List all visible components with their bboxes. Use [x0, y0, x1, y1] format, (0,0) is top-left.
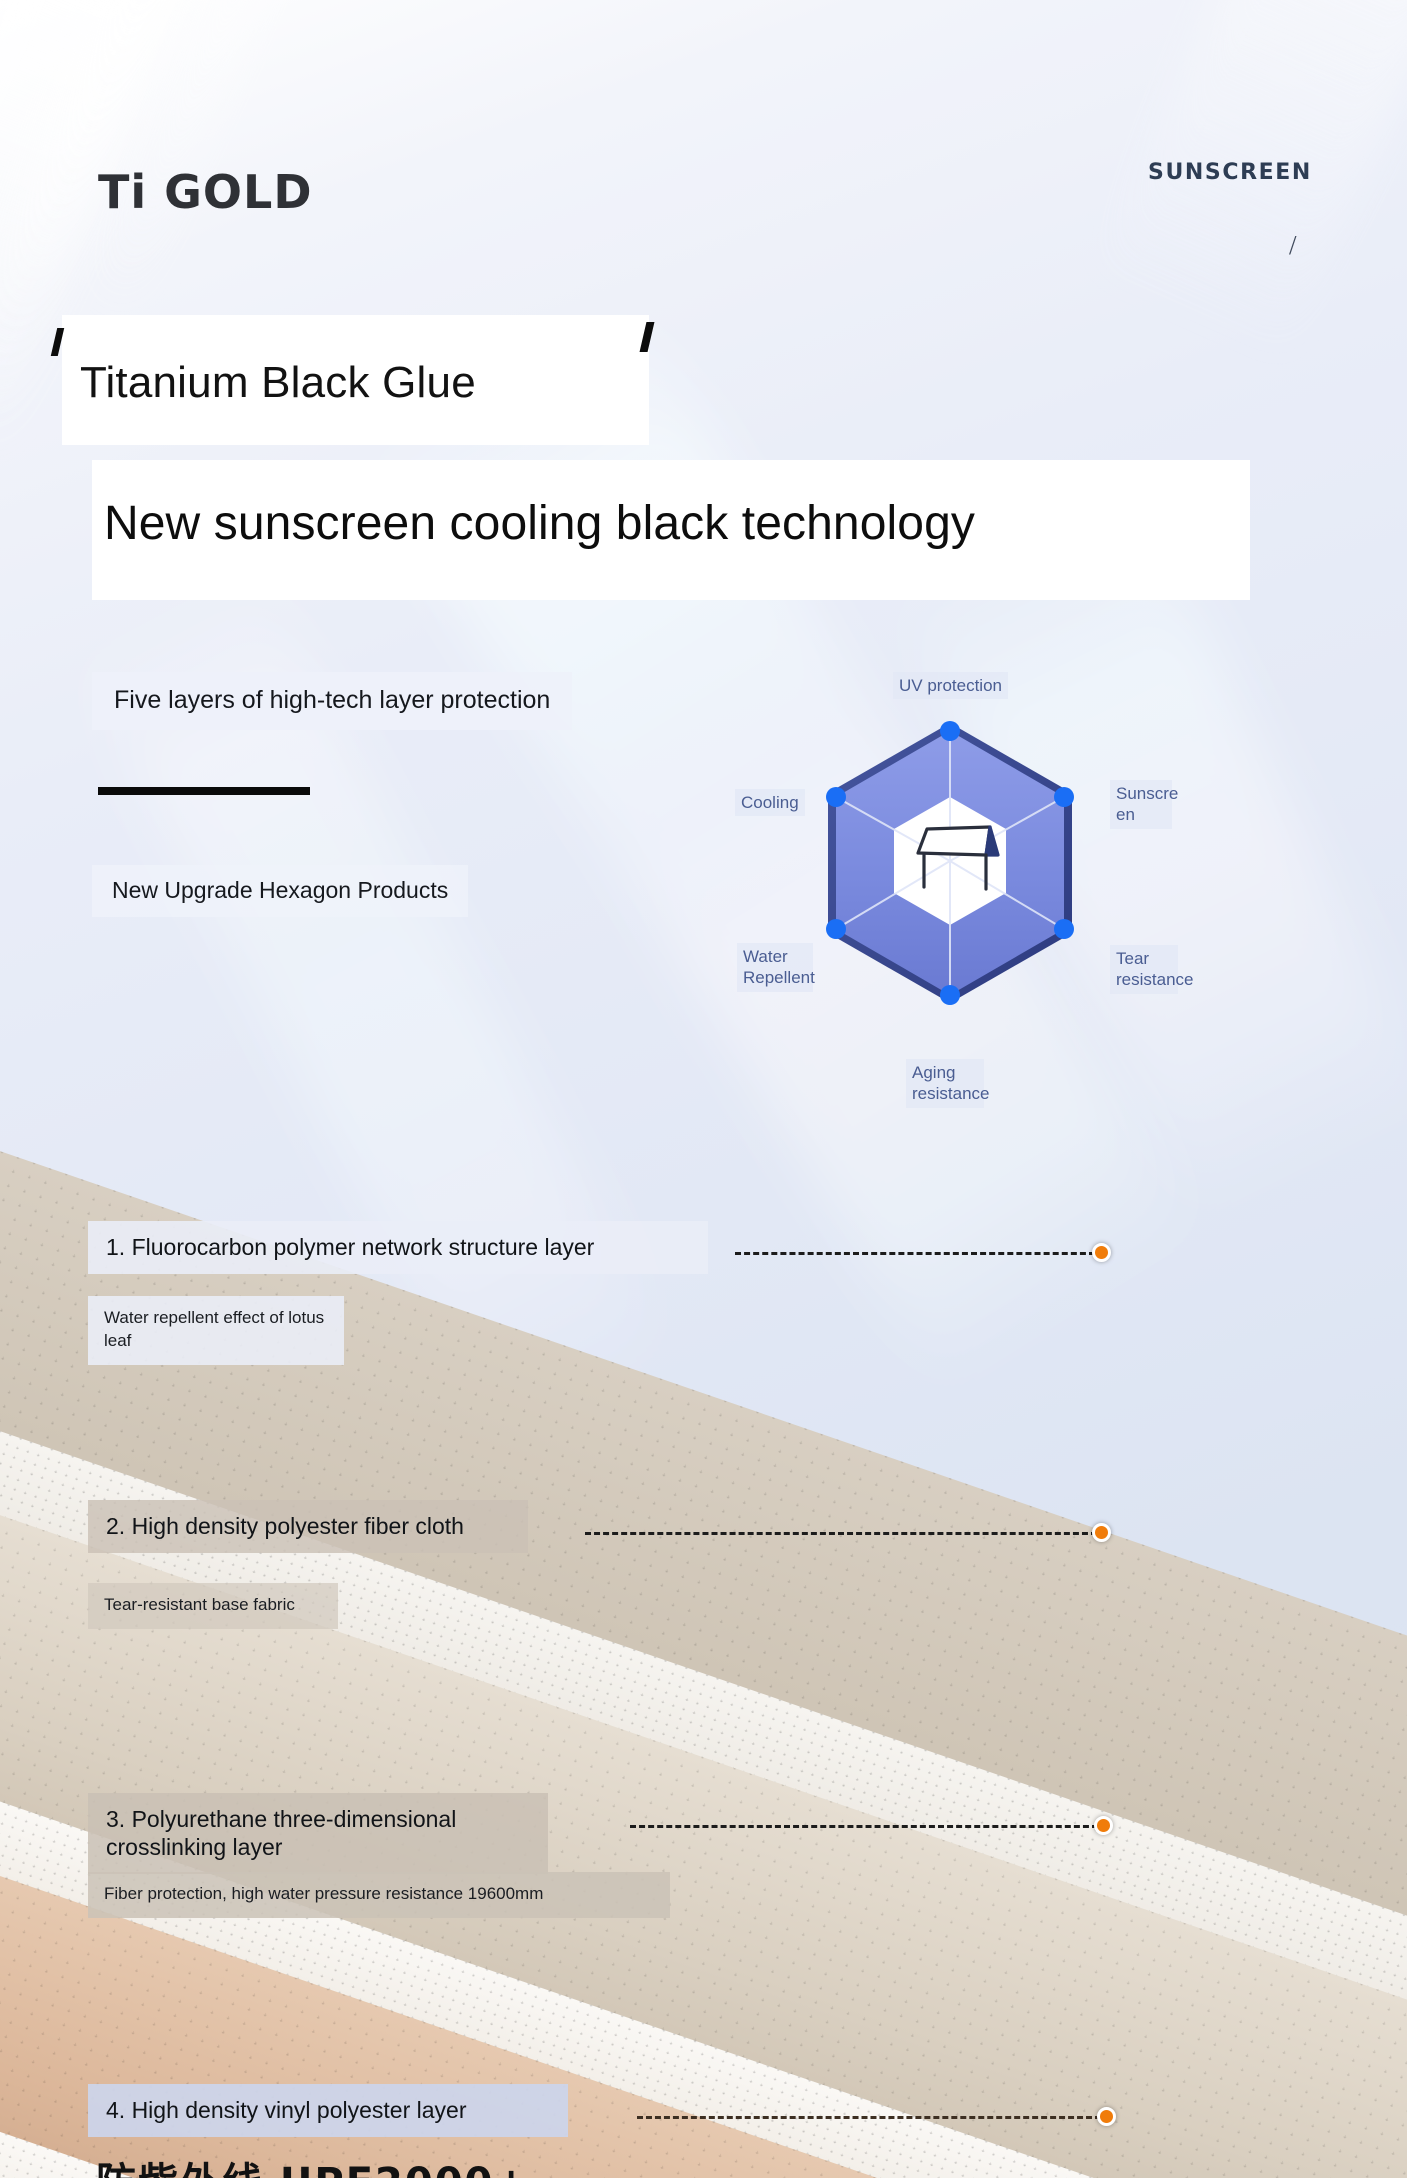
- hexagon-label-water-repellent: Water Repellent: [737, 943, 813, 992]
- hexagon-label-cooling: Cooling: [735, 789, 805, 816]
- page-title: Titanium Black Glue: [80, 358, 476, 408]
- layer-1-sub: Water repellent effect of lotus leaf: [88, 1296, 344, 1365]
- page-subtitle: New sunscreen cooling black technology: [104, 496, 975, 551]
- five-layers-label: Five layers of high-tech layer protectio…: [114, 686, 550, 714]
- divider-rule: [98, 787, 310, 795]
- bottom-chinese-headline: 防紫外线 UPF2000+: [96, 2150, 530, 2178]
- layer-3-sub: Fiber protection, high water pressure re…: [88, 1872, 670, 1918]
- layer-3-title: 3. Polyurethane three-dimensional crossl…: [88, 1793, 548, 1874]
- layer-2-title: 2. High density polyester fiber cloth: [88, 1500, 528, 1553]
- sunscreen-wordmark: SUNSCREEN: [1148, 160, 1312, 185]
- layer-2-marker-dot: [1092, 1523, 1111, 1542]
- layer-2-leader-line: [585, 1532, 1097, 1535]
- infographic-stage: Ti GOLD SUNSCREEN / Titanium Black Glue …: [0, 0, 1407, 2178]
- hexagon-svg: [800, 705, 1100, 1035]
- five-layers-chip: Five layers of high-tech layer protectio…: [92, 672, 572, 730]
- slash-divider: /: [1289, 230, 1297, 261]
- upgrade-label: New Upgrade Hexagon Products: [112, 877, 448, 903]
- hexagon-label-aging-resistance: Aging resistance: [906, 1059, 984, 1108]
- layer-1-marker-dot: [1092, 1243, 1111, 1262]
- hexagon-label-sunscreen: Sunscre en: [1110, 780, 1172, 829]
- hexagon-label-tear-resistance: Tear resistance: [1110, 945, 1178, 994]
- layer-3-marker-dot: [1094, 1816, 1113, 1835]
- layer-3-leader-line: [630, 1825, 1098, 1828]
- hexagon-radar-diagram: [800, 705, 1100, 1035]
- layered-fabric-photo: [0, 960, 1407, 2178]
- layer-2-sub: Tear-resistant base fabric: [88, 1583, 338, 1629]
- layer-4-title: 4. High density vinyl polyester layer: [88, 2084, 568, 2137]
- layer-4-leader-line: [637, 2116, 1101, 2119]
- layer-1-leader-line: [735, 1252, 1095, 1255]
- layer-1-title: 1. Fluorocarbon polymer network structur…: [88, 1221, 708, 1274]
- layer-4-marker-dot: [1097, 2107, 1116, 2126]
- hexagon-label-uv-protection: UV protection: [893, 672, 1008, 699]
- upgrade-chip: New Upgrade Hexagon Products: [92, 865, 468, 917]
- brand-logo: Ti GOLD: [98, 165, 313, 219]
